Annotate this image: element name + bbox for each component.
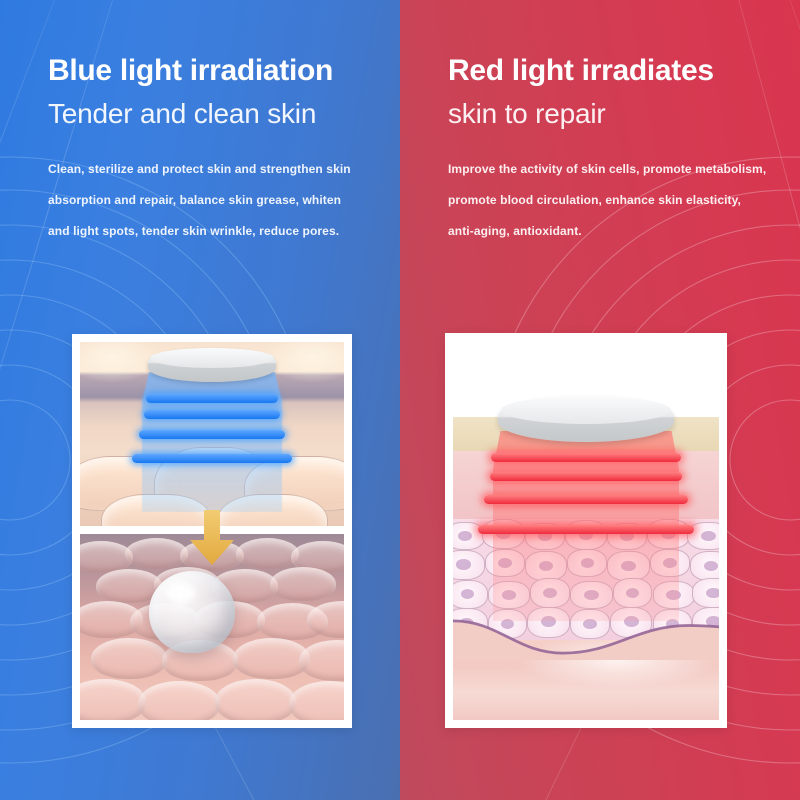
red-body-line-3: anti-aging, antioxidant.	[448, 216, 778, 247]
blue-subhead: Tender and clean skin	[48, 96, 378, 132]
red-text-block: Red light irradiates skin to repair Impr…	[448, 52, 778, 247]
blue-light-beam	[142, 372, 282, 512]
red-illustration-beam	[453, 341, 719, 720]
water-droplet	[149, 571, 235, 653]
blue-beam-bar-2	[144, 410, 280, 419]
blue-illustration-beam	[80, 342, 344, 526]
blue-body-line-3: and light spots, tender skin wrinkle, re…	[48, 216, 378, 247]
blue-beam-bar-3	[139, 430, 285, 439]
red-beam-bar-1	[491, 453, 681, 462]
panel-red-light: Red light irradiates skin to repair Impr…	[400, 0, 800, 800]
red-beam-bar-3	[484, 495, 688, 504]
blue-image-card	[72, 334, 352, 728]
blue-light-device-disc	[148, 348, 276, 382]
blue-beam-bar-4	[132, 454, 292, 463]
red-image-card	[445, 333, 727, 728]
blue-headline: Blue light irradiation	[48, 52, 378, 90]
red-beam-bar-2	[490, 472, 682, 481]
red-light-device-disc	[498, 396, 674, 442]
blue-beam-bar-1	[146, 394, 278, 403]
red-body-text: Improve the activity of skin cells, prom…	[448, 154, 778, 247]
red-skin-scene	[453, 341, 719, 720]
infographic-stage: Blue light irradiation Tender and clean …	[0, 0, 800, 800]
basement-membrane-curve	[453, 614, 719, 660]
red-beam-bar-4	[478, 525, 694, 534]
red-subhead: skin to repair	[448, 96, 778, 132]
red-headline: Red light irradiates	[448, 52, 778, 90]
panel-blue-light: Blue light irradiation Tender and clean …	[0, 0, 400, 800]
red-body-line-2: promote blood circulation, enhance skin …	[448, 185, 778, 216]
blue-text-block: Blue light irradiation Tender and clean …	[48, 52, 378, 247]
blue-body-text: Clean, sterilize and protect skin and st…	[48, 154, 378, 247]
blue-body-line-1: Clean, sterilize and protect skin and st…	[48, 154, 378, 185]
blue-body-line-2: absorption and repair, balance skin grea…	[48, 185, 378, 216]
red-body-line-1: Improve the activity of skin cells, prom…	[448, 154, 778, 185]
down-arrow-icon	[189, 510, 235, 566]
